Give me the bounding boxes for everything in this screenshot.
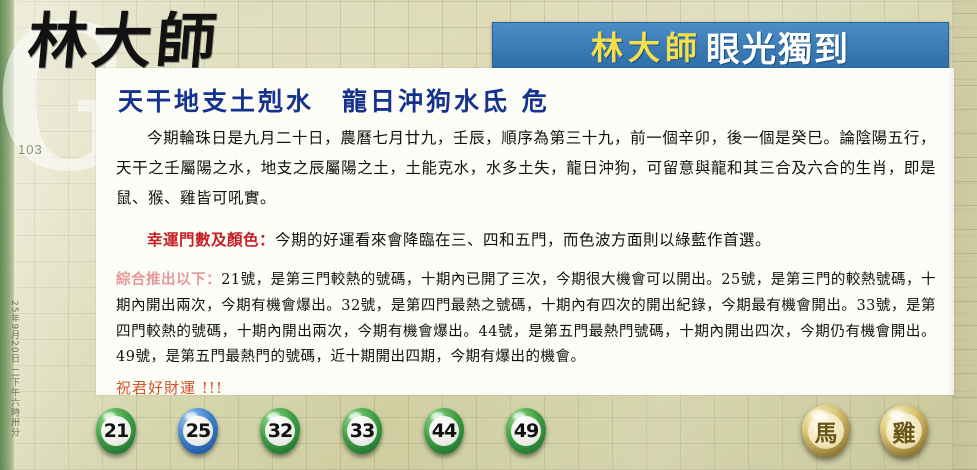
- zodiac-ball-rooster[interactable]: 雞: [880, 405, 928, 457]
- picks-strip: 21 25 32 33 44 49: [96, 398, 954, 464]
- headline-banner: 林大師 眼光獨到: [492, 22, 949, 70]
- ball-gloss: [431, 412, 444, 421]
- ball-number: 33: [350, 420, 374, 442]
- summary-paragraph: 綜合推出以下：21號，是第三門較熱的號碼，十期內已開了三次，今期很大機會可以開出…: [116, 267, 936, 371]
- lottery-ball[interactable]: 32: [260, 408, 300, 454]
- closing-line: 祝君好財運 !!!: [116, 377, 954, 398]
- ball-gloss: [513, 412, 526, 421]
- ball-gloss: [349, 412, 362, 421]
- lucky-paragraph: 幸運門數及顏色：今期的好運看來會降臨在三、四和五門，而色波方面則以綠藍作首選。: [116, 225, 936, 256]
- article-sheet: 天干地支土剋水 龍日沖狗水氐 危 今期輪珠日是九月二十日，農曆七月廿九，壬辰，順…: [96, 68, 954, 395]
- ball-gloss: [103, 412, 116, 421]
- lottery-ball[interactable]: 49: [506, 408, 546, 454]
- ball-number: 21: [104, 420, 128, 442]
- article-title: 天干地支土剋水 龍日沖狗水氐 危: [96, 68, 954, 124]
- zodiac-gloss: [889, 410, 905, 420]
- lucky-text: 今期的好運看來會降臨在三、四和五門，而色波方面則以綠藍作首選。: [275, 231, 771, 249]
- ball-number: 32: [268, 420, 292, 442]
- page-number: 103: [18, 142, 43, 157]
- ball-number: 44: [432, 420, 456, 442]
- ball-gloss: [185, 412, 198, 421]
- zodiac-ball-horse[interactable]: 馬: [802, 405, 850, 457]
- left-vertical-caption: 25年9月20日 二下午六時卅分: [8, 300, 21, 438]
- poster-page: G 103 25年9月20日 二下午六時卅分 林大師 林大師 眼光獨到 天干地支…: [0, 0, 977, 470]
- ball-number: 25: [186, 420, 210, 442]
- article-paragraph-1: 今期輪珠日是九月二十日，農曆七月廿九，壬辰，順序為第三十九，前一個辛卯，後一個是…: [116, 124, 936, 213]
- banner-text-yellow: 林大師: [591, 23, 702, 69]
- lottery-ball[interactable]: 25: [178, 408, 218, 454]
- banner-text-white: 眼光獨到: [706, 22, 850, 71]
- brush-logo: 林大師: [25, 12, 222, 72]
- lottery-ball[interactable]: 44: [424, 408, 464, 454]
- ball-number: 49: [514, 420, 538, 442]
- right-edge-texture: [953, 0, 977, 470]
- ball-gloss: [267, 412, 280, 421]
- zodiac-gloss: [811, 410, 827, 420]
- lottery-ball[interactable]: 21: [96, 408, 136, 454]
- summary-label: 綜合推出以下：: [116, 271, 221, 288]
- summary-text: 21號，是第三門較熱的號碼，十期內已開了三次，今期很大機會可以開出。25號，是第…: [116, 272, 936, 365]
- lottery-ball[interactable]: 33: [342, 408, 382, 454]
- lucky-label: 幸運門數及顏色：: [147, 230, 275, 249]
